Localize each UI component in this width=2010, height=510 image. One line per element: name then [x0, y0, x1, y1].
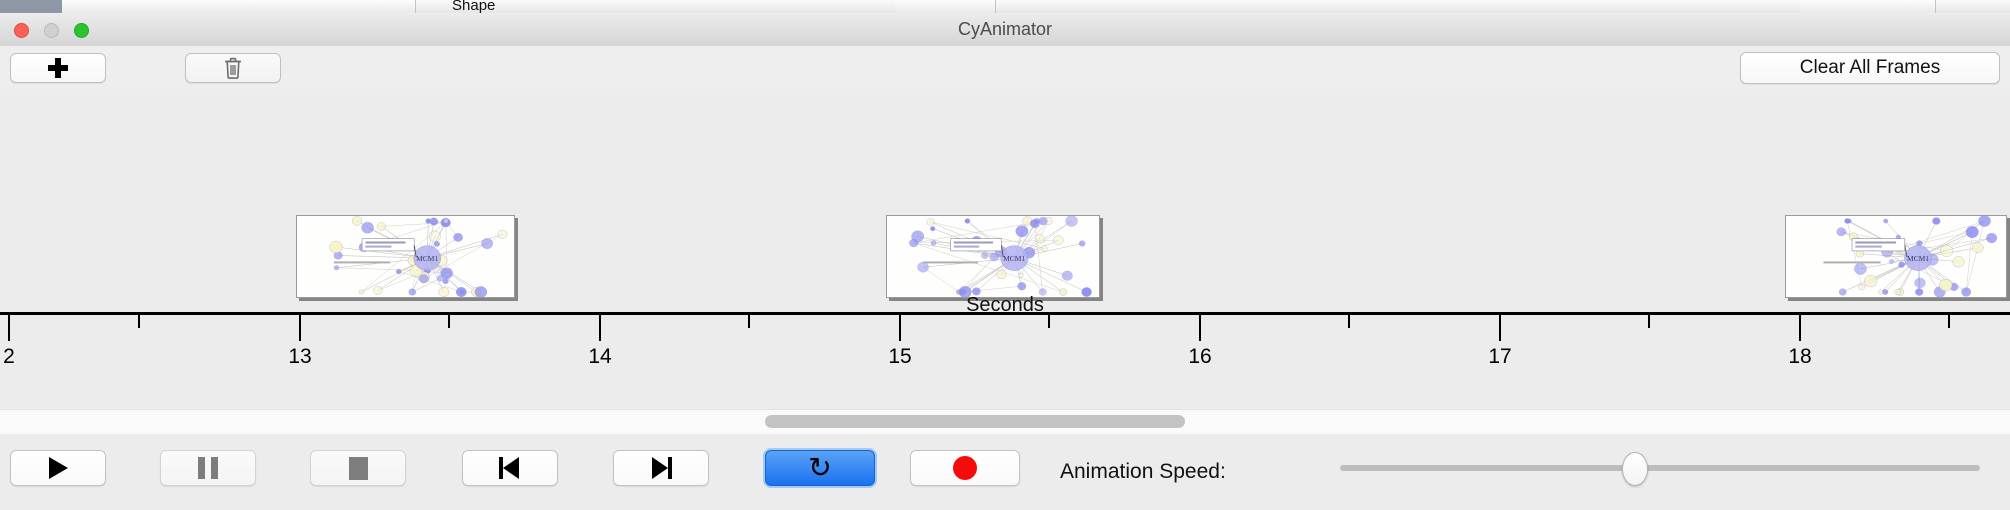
trash-icon [224, 57, 242, 79]
background-cell [184, 0, 243, 13]
delete-frame-button[interactable] [185, 53, 281, 83]
background-cell [945, 0, 996, 13]
keyframe-thumbnail[interactable]: MCM1 [296, 215, 515, 298]
play-button[interactable] [10, 450, 106, 486]
clear-all-frames-label: Clear All Frames [1800, 57, 1940, 79]
title-bar: CyAnimator [0, 13, 2010, 47]
axis-tick-major [1799, 315, 1801, 341]
axis-tick-label: 14 [559, 345, 641, 369]
background-cell [895, 0, 946, 13]
scrollbar-thumb[interactable] [765, 415, 1185, 428]
axis-tick-major [899, 315, 901, 341]
play-icon [49, 457, 68, 479]
keyframe-thumbnail[interactable]: MCM1 [1785, 215, 2007, 298]
axis-tick-major [599, 315, 601, 341]
loop-button[interactable]: ↻ [765, 450, 875, 486]
svg-text:MCM1: MCM1 [1907, 254, 1929, 263]
background-cell [1800, 0, 1856, 13]
skip-forward-icon [650, 457, 672, 479]
record-button[interactable] [910, 450, 1020, 486]
clear-all-frames-button[interactable]: Clear All Frames [1740, 52, 2000, 84]
playback-control-bar: ↻ Animation Speed: [0, 434, 2010, 510]
axis-title: Seconds [0, 294, 2010, 317]
axis-tick-label: 2 [0, 345, 50, 369]
pause-icon [198, 457, 218, 479]
background-cell [62, 0, 143, 13]
axis-tick-major [1499, 315, 1501, 341]
background-window-label: Shape [452, 0, 495, 14]
skip-forward-button[interactable] [613, 450, 709, 486]
background-cell [142, 0, 185, 13]
background-toolbar-dark-cell [0, 0, 62, 13]
loop-icon: ↻ [808, 454, 831, 482]
background-window-strip: Shape [0, 0, 2010, 14]
timeline-panel[interactable]: 2131415161718 MCM1MCM1MCM1 Seconds [0, 89, 2010, 409]
window-title: CyAnimator [0, 13, 2010, 46]
skip-back-icon [499, 457, 521, 479]
axis-tick-label: 17 [1459, 345, 1541, 369]
svg-text:MCM1: MCM1 [1003, 254, 1025, 263]
svg-text:MCM1: MCM1 [416, 254, 438, 263]
axis-tick-label: 13 [259, 345, 341, 369]
background-cell [300, 0, 416, 13]
cyanimator-window: Shape CyAnimator Clear All Frames 213141… [0, 0, 2010, 510]
background-cell [1855, 0, 1936, 13]
axis-tick-major [8, 315, 10, 341]
toolbar: Clear All Frames [0, 46, 2010, 90]
axis-tick-label: 15 [859, 345, 941, 369]
axis-tick-major [1199, 315, 1201, 341]
keyframe-thumbnail[interactable]: MCM1 [886, 215, 1100, 298]
record-icon [953, 456, 977, 480]
horizontal-scrollbar[interactable] [0, 409, 2010, 435]
animation-speed-slider-track[interactable] [1340, 465, 1980, 471]
stop-button [310, 450, 406, 486]
skip-back-button[interactable] [462, 450, 558, 486]
add-frame-button[interactable] [10, 53, 106, 83]
background-cell [242, 0, 301, 13]
animation-speed-label: Animation Speed: [1060, 460, 1226, 484]
plus-icon [48, 58, 68, 78]
axis-tick-label: 16 [1159, 345, 1241, 369]
stop-icon [349, 457, 368, 480]
animation-speed-slider-thumb[interactable] [1622, 452, 1648, 486]
pause-button [160, 450, 256, 486]
axis-tick-label: 18 [1759, 345, 1841, 369]
axis-tick-major [299, 315, 301, 341]
